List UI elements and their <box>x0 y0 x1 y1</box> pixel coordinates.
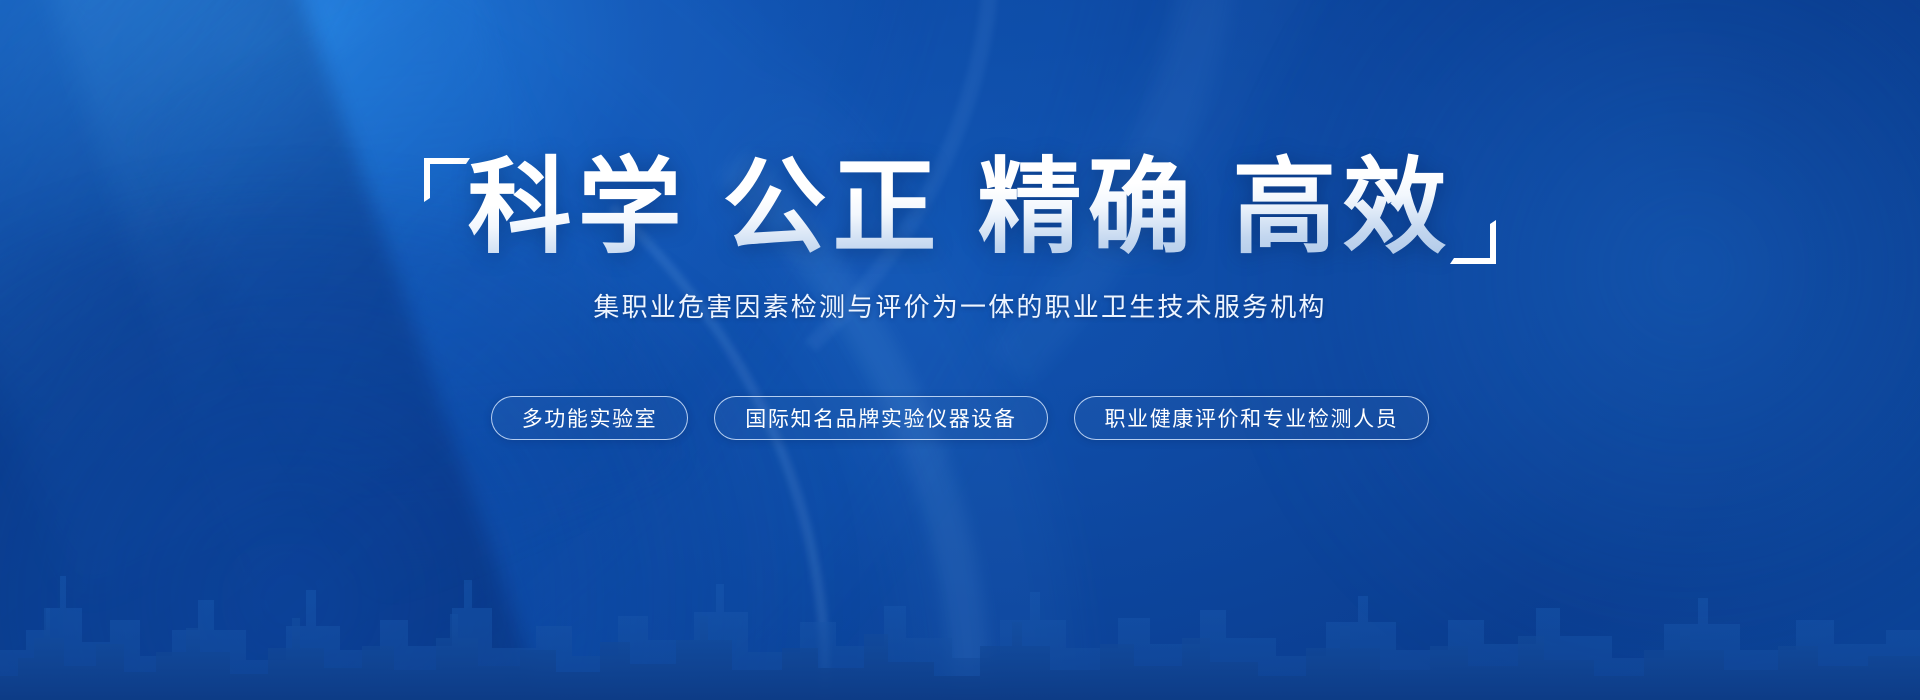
banner-subtitle: 集职业危害因素检测与评价为一体的职业卫生技术服务机构 <box>593 287 1326 324</box>
feature-pill-label: 国际知名品牌实验仪器设备 <box>745 403 1016 433</box>
feature-pill-label: 多功能实验室 <box>522 403 658 433</box>
feature-pill-list: 多功能实验室 国际知名品牌实验仪器设备 职业健康评价和专业检测人员 <box>491 396 1430 440</box>
feature-pill-lab[interactable]: 多功能实验室 <box>491 396 689 440</box>
feature-pill-label: 职业健康评价和专业检测人员 <box>1105 403 1399 433</box>
corner-bracket-bottom-right-icon <box>1448 216 1500 268</box>
banner-content: 科学 公正 精确 高效 集职业危害因素检测与评价为一体的职业卫生技术服务机构 多… <box>0 0 1920 700</box>
feature-pill-personnel[interactable]: 职业健康评价和专业检测人员 <box>1074 396 1430 440</box>
headline-wrapper: 科学 公正 精确 高效 <box>434 150 1487 266</box>
hero-banner: 科学 公正 精确 高效 集职业危害因素检测与评价为一体的职业卫生技术服务机构 多… <box>0 0 1920 700</box>
page-title: 科学 公正 精确 高效 <box>434 150 1487 266</box>
feature-pill-equipment[interactable]: 国际知名品牌实验仪器设备 <box>714 396 1047 440</box>
